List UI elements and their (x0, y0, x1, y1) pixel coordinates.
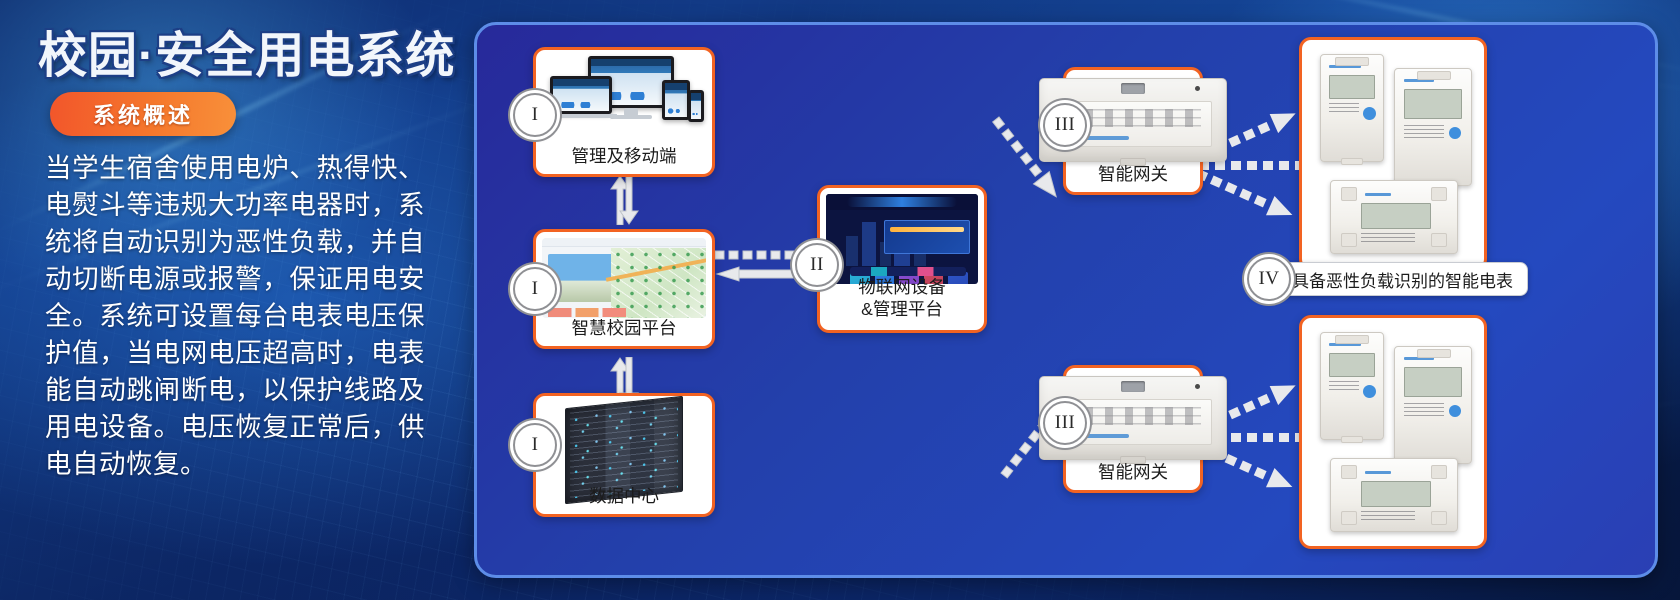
din-rail-meter-icon (1330, 180, 1458, 254)
three-phase-meter-icon (1394, 68, 1472, 186)
node-data-center[interactable]: 数据中心 (533, 393, 715, 517)
numeral-badge-gateway-top: III (1043, 103, 1087, 147)
node-smart-campus[interactable]: 智慧校园平台 (533, 229, 715, 349)
node-data-center-label: 数据中心 (536, 485, 712, 507)
node-gateway-top-label: 智能网关 (1066, 163, 1200, 185)
meter-panel-bottom[interactable] (1299, 315, 1487, 549)
single-phase-meter-icon (1320, 332, 1384, 440)
node-smart-campus-label: 智慧校园平台 (536, 317, 712, 339)
node-admin-mobile-label: 管理及移动端 (536, 145, 712, 167)
numeral-badge-meter-group: IV (1247, 257, 1291, 301)
din-rail-meter-icon (1330, 458, 1458, 532)
numeral-badge-iot-platform: II (795, 243, 839, 287)
gateway-led (1195, 86, 1200, 91)
arrow-admin-campus (609, 175, 635, 225)
single-phase-meter-icon (1320, 54, 1384, 162)
overview-body-text: 当学生宿舍使用电炉、热得快、电熨斗等违规大功率电器时，系统将自动识别为恶性负载，… (45, 150, 425, 483)
smart-campus-illustration (542, 238, 706, 318)
gateway-port (1121, 83, 1145, 94)
gateway-port (1121, 381, 1145, 392)
node-iot-platform-label: 物联网设备 &管理平台 (820, 276, 984, 320)
numeral-badge-data-center: I (513, 423, 557, 467)
overview-column: 校园·安全用电系统 系统概述 当学生宿舍使用电炉、热得快、电熨斗等违规大功率电器… (0, 0, 470, 600)
architecture-diagram-panel: 管理及移动端 I 智慧校园平台 I 数据中心 I (474, 22, 1658, 578)
page-title: 校园·安全用电系统 (38, 16, 455, 87)
node-admin-mobile[interactable]: 管理及移动端 (533, 47, 715, 177)
admin-mobile-illustration (536, 50, 712, 142)
meter-panel-top[interactable] (1299, 37, 1487, 271)
iot-platform-illustration (826, 194, 978, 284)
section-badge: 系统概述 (50, 92, 236, 136)
numeral-badge-admin-mobile: I (513, 93, 557, 137)
gateway-led (1195, 384, 1200, 389)
numeral-badge-gateway-bottom: III (1043, 401, 1087, 445)
tablet-icon (662, 80, 690, 120)
node-iot-platform[interactable]: 物联网设备 &管理平台 (817, 185, 987, 333)
numeral-badge-smart-campus: I (513, 267, 557, 311)
meter-group-label: 具备恶性负载识别的智能电表 (1292, 267, 1513, 292)
three-phase-meter-icon (1394, 346, 1472, 464)
campus-dashboard-mock (542, 238, 706, 318)
iot-dashboard-mock (826, 194, 978, 284)
section-badge-label: 系统概述 (93, 98, 193, 130)
phone-icon (688, 90, 704, 122)
laptop-icon (550, 76, 612, 114)
node-gateway-bottom-label: 智能网关 (1066, 461, 1200, 483)
